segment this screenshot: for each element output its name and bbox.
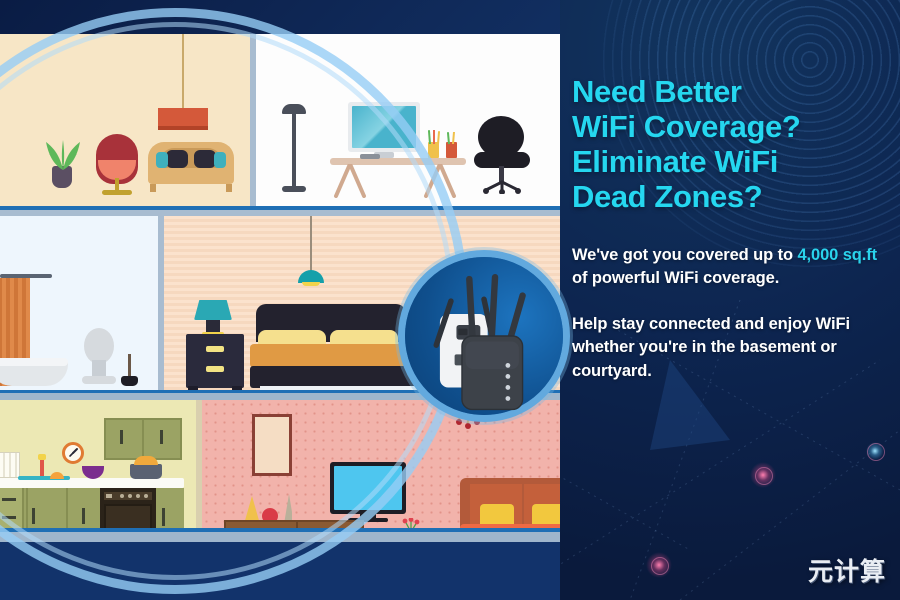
headline-line-3: Eliminate WiFi <box>572 144 892 179</box>
body-paragraph-1: We've got you covered up to 4,000 sq.ft … <box>572 244 892 291</box>
pens-yellow <box>426 130 442 144</box>
body-1-post: of powerful WiFi coverage. <box>572 269 779 287</box>
watermark: 元计算 <box>808 552 886 588</box>
front-extender-body <box>462 336 523 409</box>
wifi-range-extender-device <box>405 257 563 415</box>
pens-orange <box>444 132 460 144</box>
glow-dot-pink-2 <box>646 552 672 578</box>
headline: Need Better WiFi Coverage? Eliminate WiF… <box>572 74 892 214</box>
headline-line-2: WiFi Coverage? <box>572 109 892 144</box>
headline-line-1: Need Better <box>572 74 892 109</box>
ad-copy: Need Better WiFi Coverage? Eliminate WiF… <box>572 74 892 383</box>
house-cutaway-illustration <box>0 0 560 600</box>
device-highlight-circle <box>398 250 570 422</box>
body-paragraph-2: Help stay connected and enjoy WiFi wheth… <box>572 313 892 383</box>
office-chair-base <box>482 180 522 194</box>
advertisement-banner: Need Better WiFi Coverage? Eliminate WiF… <box>0 0 900 600</box>
body-1-pre: We've got you covered up to <box>572 246 797 264</box>
coverage-area-highlight: 4,000 sq.ft <box>797 246 877 264</box>
glow-dot-pink-1 <box>750 462 776 488</box>
headline-line-4: Dead Zones? <box>572 179 892 214</box>
glow-dot-cyan-1 <box>866 442 884 460</box>
pen-cup-orange <box>446 142 457 158</box>
